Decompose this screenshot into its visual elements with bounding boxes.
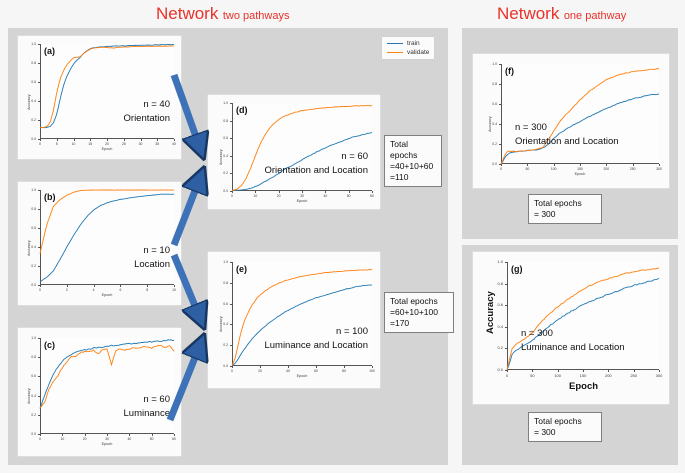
y-tick-label: 1.0 [20, 42, 36, 46]
y-tick-label: 0.0 [481, 162, 497, 166]
panel-letter-e: (e) [236, 264, 247, 274]
x-axis-label: Epoch [93, 147, 121, 151]
x-tick-label: 60 [362, 194, 382, 198]
x-tickmark [349, 191, 350, 193]
x-tickmark [62, 434, 63, 436]
y-axis-label: Accuracy [219, 316, 223, 332]
axes-b: 0.00.20.40.60.81.00246810 [40, 190, 174, 285]
y-tick-label: 0.6 [20, 80, 36, 84]
x-tick-label: 0 [491, 167, 511, 171]
x-tick-label: 150 [570, 167, 590, 171]
n-label-c: n = 60 [143, 394, 170, 405]
n-label-a: n = 40 [143, 99, 170, 110]
x-axis-label: Epoch [566, 172, 594, 176]
x-tickmark [40, 434, 41, 436]
total-epochs-line: =110 [390, 172, 436, 183]
x-tickmark [255, 191, 256, 193]
x-tickmark [634, 370, 635, 372]
y-axis-label: Accuracy [488, 116, 492, 132]
total-epochs-line: =170 [390, 318, 448, 329]
x-axis-label: Epoch [93, 293, 121, 297]
axes-c: 0.00.20.40.60.81.00102030405060 [40, 338, 174, 434]
x-tick-label: 50 [517, 167, 537, 171]
n-label-b: n = 10 [143, 245, 170, 256]
x-tickmark [232, 191, 233, 193]
x-tick-label: 0 [222, 194, 242, 198]
x-tick-label: 30 [97, 437, 117, 441]
series-layer [501, 64, 659, 164]
y-tick-label: 0.2 [212, 171, 228, 175]
x-tick-label: 30 [292, 194, 312, 198]
x-tick-label: 40 [164, 142, 184, 146]
x-tick-label: 0 [30, 288, 50, 292]
x-tickmark [120, 285, 121, 287]
x-tickmark [583, 370, 584, 372]
task-label-c: Luminance [124, 408, 170, 419]
left-network-title: Network two pathways [156, 4, 289, 24]
series-layer [40, 44, 174, 139]
x-tickmark [316, 366, 317, 368]
y-tick-label: 0.0 [487, 367, 503, 372]
x-tickmark [344, 366, 345, 368]
legend-swatch-validate [387, 52, 403, 53]
axes-d: 0.00.20.40.60.81.00102030405060 [232, 103, 372, 191]
x-tick-label: 8 [137, 288, 157, 292]
total-epochs-box-g: Total epochs= 300 [528, 412, 602, 442]
legend-row-validate: validate [387, 49, 429, 56]
plot-card-e: 0.00.20.40.60.81.0020406080100EpochAccur… [208, 252, 380, 388]
x-tickmark [325, 191, 326, 193]
x-tick-label: 300 [649, 373, 669, 378]
axes-g: 0.00.20.40.60.81.0050100150200250300 [507, 262, 659, 370]
x-tick-label: 20 [250, 369, 270, 373]
y-tick-label: 0.8 [481, 82, 497, 86]
total-epochs-line: =60+10+100 [390, 307, 448, 318]
y-tick-label: 0.2 [487, 345, 503, 350]
y-tick-label: 0.6 [481, 102, 497, 106]
total-epochs-line: Total epochs [534, 416, 596, 427]
x-tickmark [260, 366, 261, 368]
series-layer [232, 103, 372, 191]
plot-g: 0.00.20.40.60.81.0050100150200250300Epoc… [473, 252, 669, 404]
x-tickmark [606, 164, 607, 166]
series-layer [40, 190, 174, 285]
total-epochs-box-f: Total epochs= 300 [528, 194, 602, 224]
x-tickmark [527, 164, 528, 166]
y-axis-label: Accuracy [27, 388, 31, 404]
total-epochs-line: =40+10+60 [390, 161, 436, 172]
plot-card-b: 0.00.20.40.60.81.00246810EpochAccuracy(b… [18, 182, 181, 305]
total-epochs-line: Total epochs [534, 198, 596, 209]
panel-letter-c: (c) [44, 340, 55, 350]
series-line-validate [232, 270, 372, 366]
x-tickmark [57, 139, 58, 141]
x-tick-label: 10 [52, 437, 72, 441]
panel-letter-a: (a) [44, 46, 55, 56]
x-tick-label: 20 [269, 194, 289, 198]
x-tickmark [372, 191, 373, 193]
plot-card-f: 0.00.20.40.60.81.0050100150200250300Epoc… [473, 54, 669, 188]
x-tick-label: 50 [142, 437, 162, 441]
n-label-f: n = 300 [515, 122, 547, 133]
x-tick-label: 0 [30, 437, 50, 441]
y-tick-label: 0.6 [20, 374, 36, 378]
y-tick-label: 0.0 [212, 364, 228, 368]
figure-root: Network two pathways Network one pathway… [0, 0, 685, 473]
x-tick-label: 10 [164, 288, 184, 292]
right-network-title: Network one pathway [497, 4, 626, 24]
x-axis-label: Epoch [288, 374, 316, 378]
y-tick-label: 0.6 [212, 136, 228, 140]
x-axis-label: Epoch [93, 442, 121, 446]
legend: train validate [381, 36, 435, 60]
y-tick-label: 0.0 [20, 432, 36, 436]
plot-c: 0.00.20.40.60.81.00102030405060EpochAccu… [18, 328, 181, 456]
x-tick-label: 20 [75, 437, 95, 441]
x-tickmark [532, 370, 533, 372]
y-tick-label: 0.2 [212, 343, 228, 347]
y-tick-label: 0.0 [20, 137, 36, 141]
series-line-validate [501, 69, 659, 164]
right-network-title-sub: one pathway [564, 10, 626, 22]
x-tickmark [174, 139, 175, 141]
y-tick-label: 0.0 [212, 189, 228, 193]
y-tick-label: 0.6 [20, 226, 36, 230]
series-line-train [507, 278, 659, 370]
plot-card-c: 0.00.20.40.60.81.00102030405060EpochAccu… [18, 328, 181, 456]
x-tickmark [157, 139, 158, 141]
x-tickmark [279, 191, 280, 193]
task-label-e: Luminance and Location [264, 340, 368, 351]
task-label-a: Orientation [124, 113, 170, 124]
x-axis-label: Epoch [288, 199, 316, 203]
plot-card-d: 0.00.20.40.60.81.00102030405060EpochAccu… [208, 95, 380, 209]
plot-e: 0.00.20.40.60.81.0020406080100EpochAccur… [208, 252, 380, 388]
x-tick-label: 10 [245, 194, 265, 198]
x-tickmark [152, 434, 153, 436]
y-tick-label: 0.8 [20, 207, 36, 211]
x-tick-label: 50 [522, 373, 542, 378]
y-tick-label: 0.2 [20, 118, 36, 122]
plot-card-g: 0.00.20.40.60.81.0050100150200250300Epoc… [473, 252, 669, 404]
y-tick-label: 1.0 [20, 336, 36, 340]
x-tickmark [124, 139, 125, 141]
plot-card-a: 0.00.20.40.60.81.00510152025303540EpochA… [18, 36, 181, 159]
x-tick-label: 250 [623, 167, 643, 171]
x-tickmark [372, 366, 373, 368]
task-label-d: Orientation and Location [264, 165, 368, 176]
x-tick-label: 200 [596, 167, 616, 171]
y-tick-label: 0.2 [481, 142, 497, 146]
y-tick-label: 0.6 [212, 302, 228, 306]
x-tick-label: 60 [164, 437, 184, 441]
x-tickmark [554, 164, 555, 166]
y-tick-label: 0.8 [487, 281, 503, 286]
y-tick-label: 1.0 [487, 259, 503, 264]
x-tickmark [501, 164, 502, 166]
legend-label-validate: validate [407, 49, 429, 56]
y-axis-label: Accuracy [219, 149, 223, 165]
x-tickmark [40, 139, 41, 141]
task-label-g: Luminance and Location [521, 342, 625, 353]
panel-letter-b: (b) [44, 192, 56, 202]
y-tick-label: 1.0 [20, 188, 36, 192]
x-tick-label: 60 [306, 369, 326, 373]
x-tickmark [107, 434, 108, 436]
legend-row-train: train [387, 40, 429, 47]
y-tick-label: 0.2 [20, 264, 36, 268]
x-tickmark [659, 370, 660, 372]
panel-letter-g: (g) [511, 264, 523, 274]
series-layer [40, 338, 174, 434]
x-tick-label: 100 [548, 373, 568, 378]
y-tick-label: 0.8 [20, 355, 36, 359]
plot-f: 0.00.20.40.60.81.0050100150200250300Epoc… [473, 54, 669, 188]
legend-swatch-train [387, 43, 403, 44]
task-label-b: Location [134, 259, 170, 270]
y-tick-label: 0.8 [20, 61, 36, 65]
x-tick-label: 100 [362, 369, 382, 373]
y-tick-label: 1.0 [212, 260, 228, 264]
series-line-validate [232, 105, 372, 190]
x-tick-label: 0 [497, 373, 517, 378]
x-tickmark [174, 285, 175, 287]
x-tick-label: 150 [573, 373, 593, 378]
x-axis-label: Epoch [569, 381, 597, 392]
x-tickmark [85, 434, 86, 436]
x-tickmark [232, 366, 233, 368]
total-epochs-line: epochs [390, 150, 436, 161]
right-network-title-main: Network [497, 4, 559, 23]
panel-letter-d: (d) [236, 105, 248, 115]
x-tickmark [608, 370, 609, 372]
x-tickmark [74, 139, 75, 141]
x-tickmark [174, 434, 175, 436]
task-label-f: Orientation and Location [515, 136, 619, 147]
total-epochs-box-bottom: Total epochs=60+10+100=170 [384, 292, 454, 333]
x-tick-label: 80 [334, 369, 354, 373]
total-epochs-box-top: Totalepochs=40+10+60=110 [384, 135, 442, 187]
plot-b: 0.00.20.40.60.81.00246810EpochAccuracy(b… [18, 182, 181, 305]
x-tick-label: 40 [315, 194, 335, 198]
x-tick-label: 100 [544, 167, 564, 171]
x-tickmark [659, 164, 660, 166]
x-tickmark [67, 285, 68, 287]
plot-d: 0.00.20.40.60.81.00102030405060EpochAccu… [208, 95, 380, 209]
total-epochs-line: Total epochs [390, 296, 448, 307]
x-tickmark [288, 366, 289, 368]
x-tick-label: 250 [624, 373, 644, 378]
x-tick-label: 4 [84, 288, 104, 292]
x-tickmark [94, 285, 95, 287]
x-tickmark [633, 164, 634, 166]
x-tick-label: 200 [598, 373, 618, 378]
x-tick-label: 2 [57, 288, 77, 292]
y-axis-label: Accuracy [27, 94, 31, 110]
x-tickmark [107, 139, 108, 141]
x-tickmark [507, 370, 508, 372]
total-epochs-line: = 300 [534, 427, 596, 438]
total-epochs-line: = 300 [534, 209, 596, 220]
x-tick-label: 0 [222, 369, 242, 373]
series-layer [507, 262, 659, 370]
y-tick-label: 0.0 [20, 283, 36, 287]
plot-a: 0.00.20.40.60.81.00510152025303540EpochA… [18, 36, 181, 159]
x-tick-label: 6 [110, 288, 130, 292]
y-axis-label: Accuracy [27, 240, 31, 256]
y-axis-label: Accuracy [485, 291, 496, 334]
x-tickmark [302, 191, 303, 193]
x-tick-label: 40 [119, 437, 139, 441]
x-tickmark [129, 434, 130, 436]
axes-f: 0.00.20.40.60.81.0050100150200250300 [501, 64, 659, 164]
x-tick-label: 50 [339, 194, 359, 198]
x-tick-label: 40 [278, 369, 298, 373]
panel-letter-f: (f) [505, 66, 514, 76]
n-label-e: n = 100 [336, 326, 368, 337]
left-network-title-sub: two pathways [223, 10, 290, 22]
n-label-g: n = 300 [521, 328, 553, 339]
x-tickmark [558, 370, 559, 372]
total-epochs-line: Total [390, 139, 436, 150]
x-tickmark [40, 285, 41, 287]
y-tick-label: 1.0 [481, 62, 497, 66]
y-tick-label: 0.8 [212, 281, 228, 285]
y-tick-label: 1.0 [212, 101, 228, 105]
legend-label-train: train [407, 40, 420, 47]
x-tickmark [141, 139, 142, 141]
n-label-d: n = 60 [341, 151, 368, 162]
x-tickmark [90, 139, 91, 141]
y-tick-label: 0.2 [20, 413, 36, 417]
x-tickmark [147, 285, 148, 287]
left-network-title-main: Network [156, 4, 218, 23]
axes-a: 0.00.20.40.60.81.00510152025303540 [40, 44, 174, 139]
y-tick-label: 0.8 [212, 119, 228, 123]
x-tick-label: 300 [649, 167, 669, 171]
x-tickmark [580, 164, 581, 166]
series-line-validate [507, 268, 659, 370]
